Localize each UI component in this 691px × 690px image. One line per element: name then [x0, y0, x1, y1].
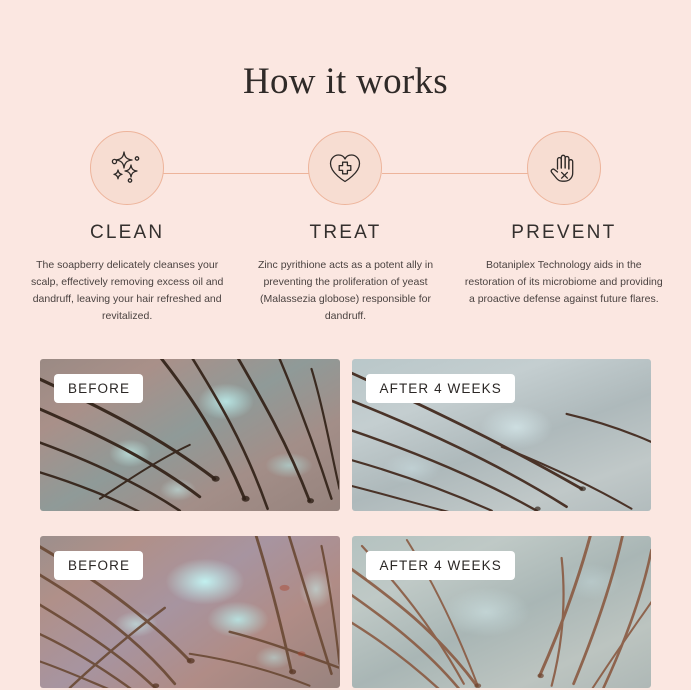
- heart-plus-icon: [325, 148, 365, 188]
- step-treat-description: Zinc pyrithione acts as a potent ally in…: [243, 257, 448, 325]
- photo-badge-before-row1: BEFORE: [54, 374, 143, 403]
- photo-before-row1: BEFORE: [40, 359, 340, 511]
- step-clean-description: The soapberry delicately cleanses your s…: [25, 257, 230, 325]
- photo-badge-after-row1: AFTER 4 WEEKS: [366, 374, 515, 403]
- photo-badge-before-row2: BEFORE: [54, 551, 143, 580]
- photo-after-row1: AFTER 4 WEEKS: [352, 359, 652, 511]
- sparkles-icon: [107, 148, 147, 188]
- step-prevent-description: Botaniplex Technology aids in the restor…: [461, 257, 666, 308]
- step-clean: CLEAN The soapberry delicately cleanses …: [18, 131, 236, 325]
- step-prevent: PREVENT Botaniplex Technology aids in th…: [455, 131, 673, 325]
- step-clean-icon-circle: [90, 131, 164, 205]
- photo-badge-after-row2: AFTER 4 WEEKS: [366, 551, 515, 580]
- photo-before-row2: BEFORE: [40, 536, 340, 688]
- steps-section: CLEAN The soapberry delicately cleanses …: [0, 131, 691, 325]
- before-after-photo-grid: BEFORE AFTER 4 WEEKS: [0, 359, 691, 688]
- step-treat: TREAT Zinc pyrithione acts as a potent a…: [236, 131, 454, 325]
- page-title: How it works: [0, 0, 691, 103]
- step-prevent-title: PREVENT: [511, 222, 616, 244]
- step-prevent-icon-circle: [527, 131, 601, 205]
- hand-stop-icon: [544, 148, 584, 188]
- photo-after-row2: AFTER 4 WEEKS: [352, 536, 652, 688]
- step-clean-title: CLEAN: [90, 222, 164, 244]
- step-treat-title: TREAT: [310, 222, 382, 244]
- step-treat-icon-circle: [308, 131, 382, 205]
